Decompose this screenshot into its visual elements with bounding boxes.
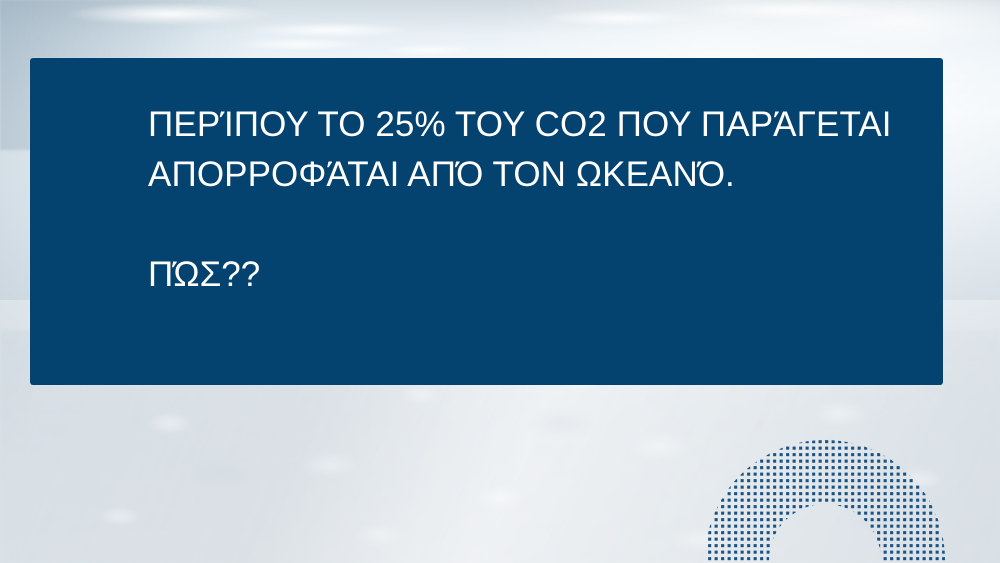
headline: ΠΕΡΊΠΟΥ ΤΟ 25% ΤΟΥ CO2 ΠΟΥ ΠΑΡΆΓΕΤΑΙ ΑΠΟ… [148, 100, 935, 200]
paragraph-spacer [148, 200, 935, 250]
dotted-arch-decoration [700, 432, 950, 563]
headline-line-1: ΠΕΡΊΠΟΥ ΤΟ 25% ΤΟΥ CO2 ΠΟΥ ΠΑΡΆΓΕΤΑΙ [148, 100, 935, 150]
panel-content: ΠΕΡΊΠΟΥ ΤΟ 25% ΤΟΥ CO2 ΠΟΥ ΠΑΡΆΓΕΤΑΙ ΑΠΟ… [148, 100, 935, 300]
slide-canvas: ΠΕΡΊΠΟΥ ΤΟ 25% ΤΟΥ CO2 ΠΟΥ ΠΑΡΆΓΕΤΑΙ ΑΠΟ… [0, 0, 1000, 563]
headline-line-2: ΑΠΟΡΡΟΦΆΤΑΙ ΑΠΌ ΤΟΝ ΩΚΕΑΝΌ. [148, 150, 935, 200]
text-panel: ΠΕΡΊΠΟΥ ΤΟ 25% ΤΟΥ CO2 ΠΟΥ ΠΑΡΆΓΕΤΑΙ ΑΠΟ… [30, 58, 943, 385]
question-text: ΠΏΣ?? [148, 250, 935, 300]
